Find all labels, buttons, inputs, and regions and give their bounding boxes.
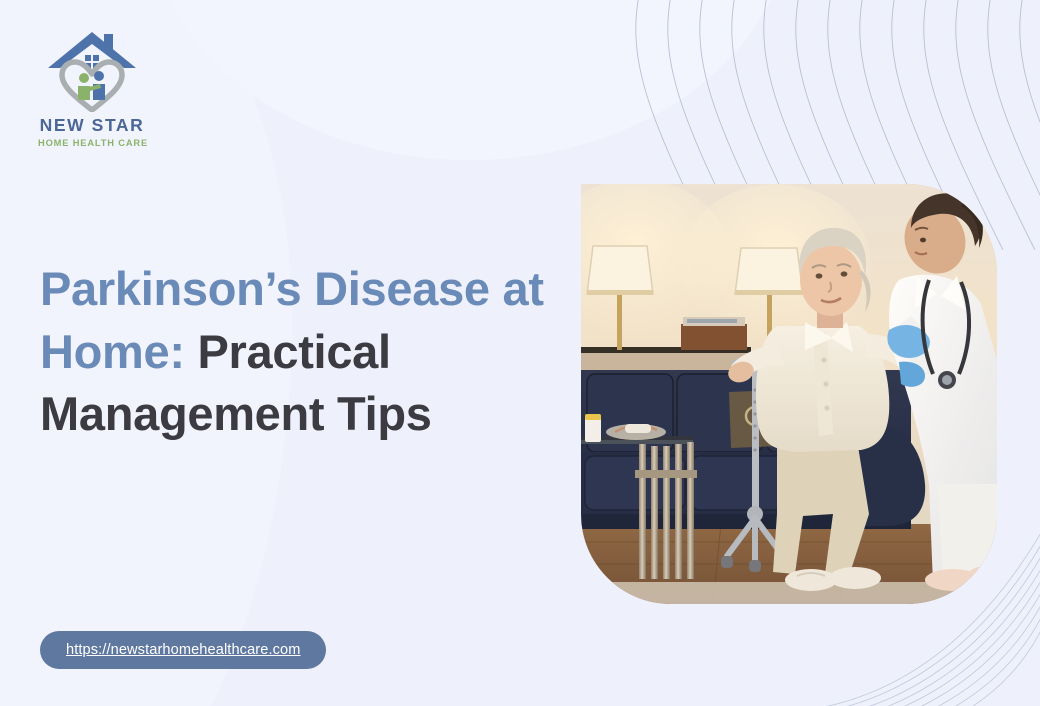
background-circle-shape: [150, 0, 790, 160]
hero-photo: [581, 184, 997, 604]
website-url-badge[interactable]: https://newstarhomehealthcare.com: [40, 631, 326, 669]
page-title: Parkinson’s Disease at Home: Practical M…: [40, 258, 560, 446]
brand-tagline: HOME HEALTH CARE: [38, 138, 146, 148]
brand-logo[interactable]: NEW STAR HOME HEALTH CARE: [38, 28, 146, 148]
hero-photo-illustration: [581, 184, 997, 604]
house-heart-family-logo-icon: [44, 28, 140, 112]
promo-banner: NEW STAR HOME HEALTH CARE Parkinson’s Di…: [0, 0, 1040, 706]
brand-name: NEW STAR: [38, 116, 146, 135]
